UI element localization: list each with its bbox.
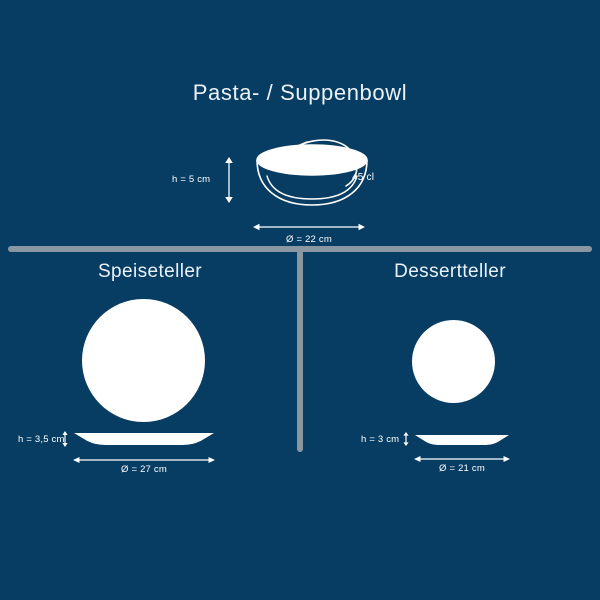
infographic-canvas: Pasta- / Suppenbowl 45 cl h = 5 cm Ø = 2… bbox=[0, 0, 600, 600]
speiseteller-profile-shape bbox=[74, 433, 214, 445]
bowl-volume-label: 45 cl bbox=[352, 172, 374, 183]
dessertteller-height-label: h = 3 cm bbox=[361, 434, 399, 445]
bowl-diameter-arrow-head-left bbox=[253, 224, 260, 230]
bowl-height-arrow bbox=[222, 155, 236, 205]
bowl-diameter-arrow-head-right bbox=[359, 224, 366, 230]
speiseteller-height-arrow-head-bottom bbox=[62, 443, 67, 447]
dessertteller-side-profile bbox=[413, 433, 511, 449]
volume-curved-arrow bbox=[288, 136, 368, 196]
speiseteller-side-profile bbox=[72, 430, 216, 450]
bowl-height-label: h = 5 cm bbox=[172, 174, 210, 185]
page-title: Pasta- / Suppenbowl bbox=[0, 80, 600, 106]
dessertteller-profile-shape bbox=[415, 435, 509, 445]
bowl-diameter-label: Ø = 22 cm bbox=[252, 234, 366, 245]
speiseteller-diameter-arrow-head-right bbox=[209, 457, 216, 463]
vertical-divider bbox=[297, 250, 303, 452]
speiseteller-height-arrow bbox=[60, 430, 70, 448]
volume-arrow-head bbox=[298, 142, 307, 153]
speiseteller-diameter-label: Ø = 27 cm bbox=[72, 464, 216, 475]
volume-arrow-curve bbox=[298, 140, 357, 186]
dessertteller-diameter-arrow-head-right bbox=[504, 456, 511, 462]
speiseteller-height-label: h = 3,5 cm bbox=[18, 434, 65, 445]
speiseteller-diameter-arrow-head-left bbox=[73, 457, 80, 463]
bowl-height-arrow-head-bottom bbox=[225, 197, 233, 203]
dessertteller-diameter-label: Ø = 21 cm bbox=[413, 463, 511, 474]
speiseteller-top-view bbox=[82, 299, 205, 422]
bowl-height-arrow-head-top bbox=[225, 157, 233, 163]
dessertteller-height-arrow-head-top bbox=[403, 432, 408, 436]
bowl-diameter-arrow bbox=[252, 221, 366, 233]
dessertteller-diameter-arrow-head-left bbox=[414, 456, 421, 462]
dessertteller-height-arrow-head-bottom bbox=[403, 442, 408, 446]
speiseteller-height-arrow-head-top bbox=[62, 431, 67, 435]
dessertteller-height-arrow bbox=[401, 431, 411, 447]
dessertteller-top-view bbox=[412, 320, 495, 403]
section-title-dessertteller: Dessertteller bbox=[310, 261, 590, 283]
section-title-speiseteller: Speiseteller bbox=[10, 261, 290, 283]
